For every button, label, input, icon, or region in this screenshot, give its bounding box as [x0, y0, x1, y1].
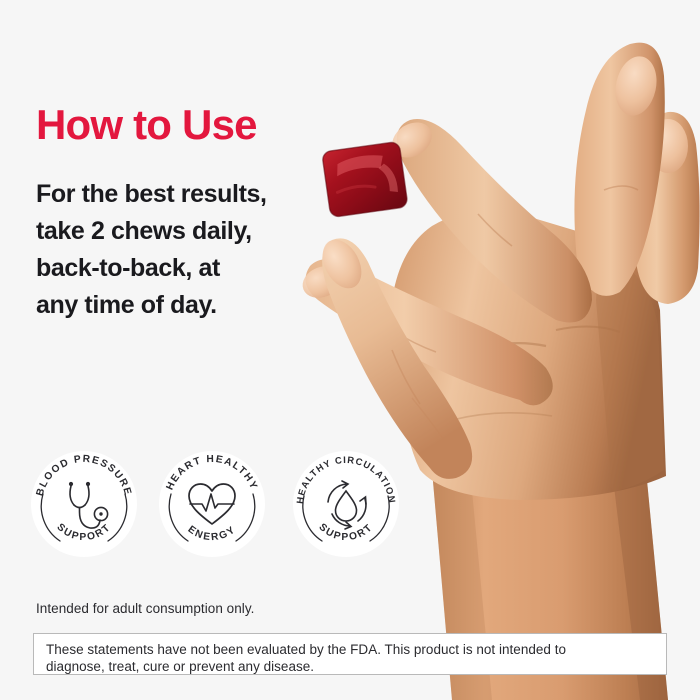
badge-healthy-circulation-support: HEALTHY CIRCULATION SUPPORT: [292, 450, 400, 558]
usage-line-2: take 2 chews daily,: [36, 213, 316, 250]
fda-disclaimer-line-2: diagnose, treat, cure or prevent any dis…: [46, 658, 654, 675]
adult-consumption-note: Intended for adult consumption only.: [36, 601, 254, 616]
rounded-square-chew: [322, 141, 408, 217]
usage-line-3: back-to-back, at: [36, 250, 316, 287]
fda-disclaimer-line-1: These statements have not been evaluated…: [46, 641, 654, 658]
badge-blood-pressure-support: BLOOD PRESSURE SUPPORT: [30, 450, 138, 558]
benefit-badges: BLOOD PRESSURE SUPPORT: [30, 450, 410, 562]
usage-line-4: any time of day.: [36, 287, 316, 324]
usage-line-1: For the best results,: [36, 176, 316, 213]
fda-disclaimer-box: These statements have not been evaluated…: [33, 633, 667, 675]
badge-heart-healthy-energy: HEART HEALTHY ENERGY: [158, 450, 266, 558]
product-instruction-card: How to Use For the best results, take 2 …: [0, 0, 700, 700]
usage-instructions: For the best results, take 2 chews daily…: [36, 176, 316, 324]
page-title: How to Use: [36, 104, 257, 146]
